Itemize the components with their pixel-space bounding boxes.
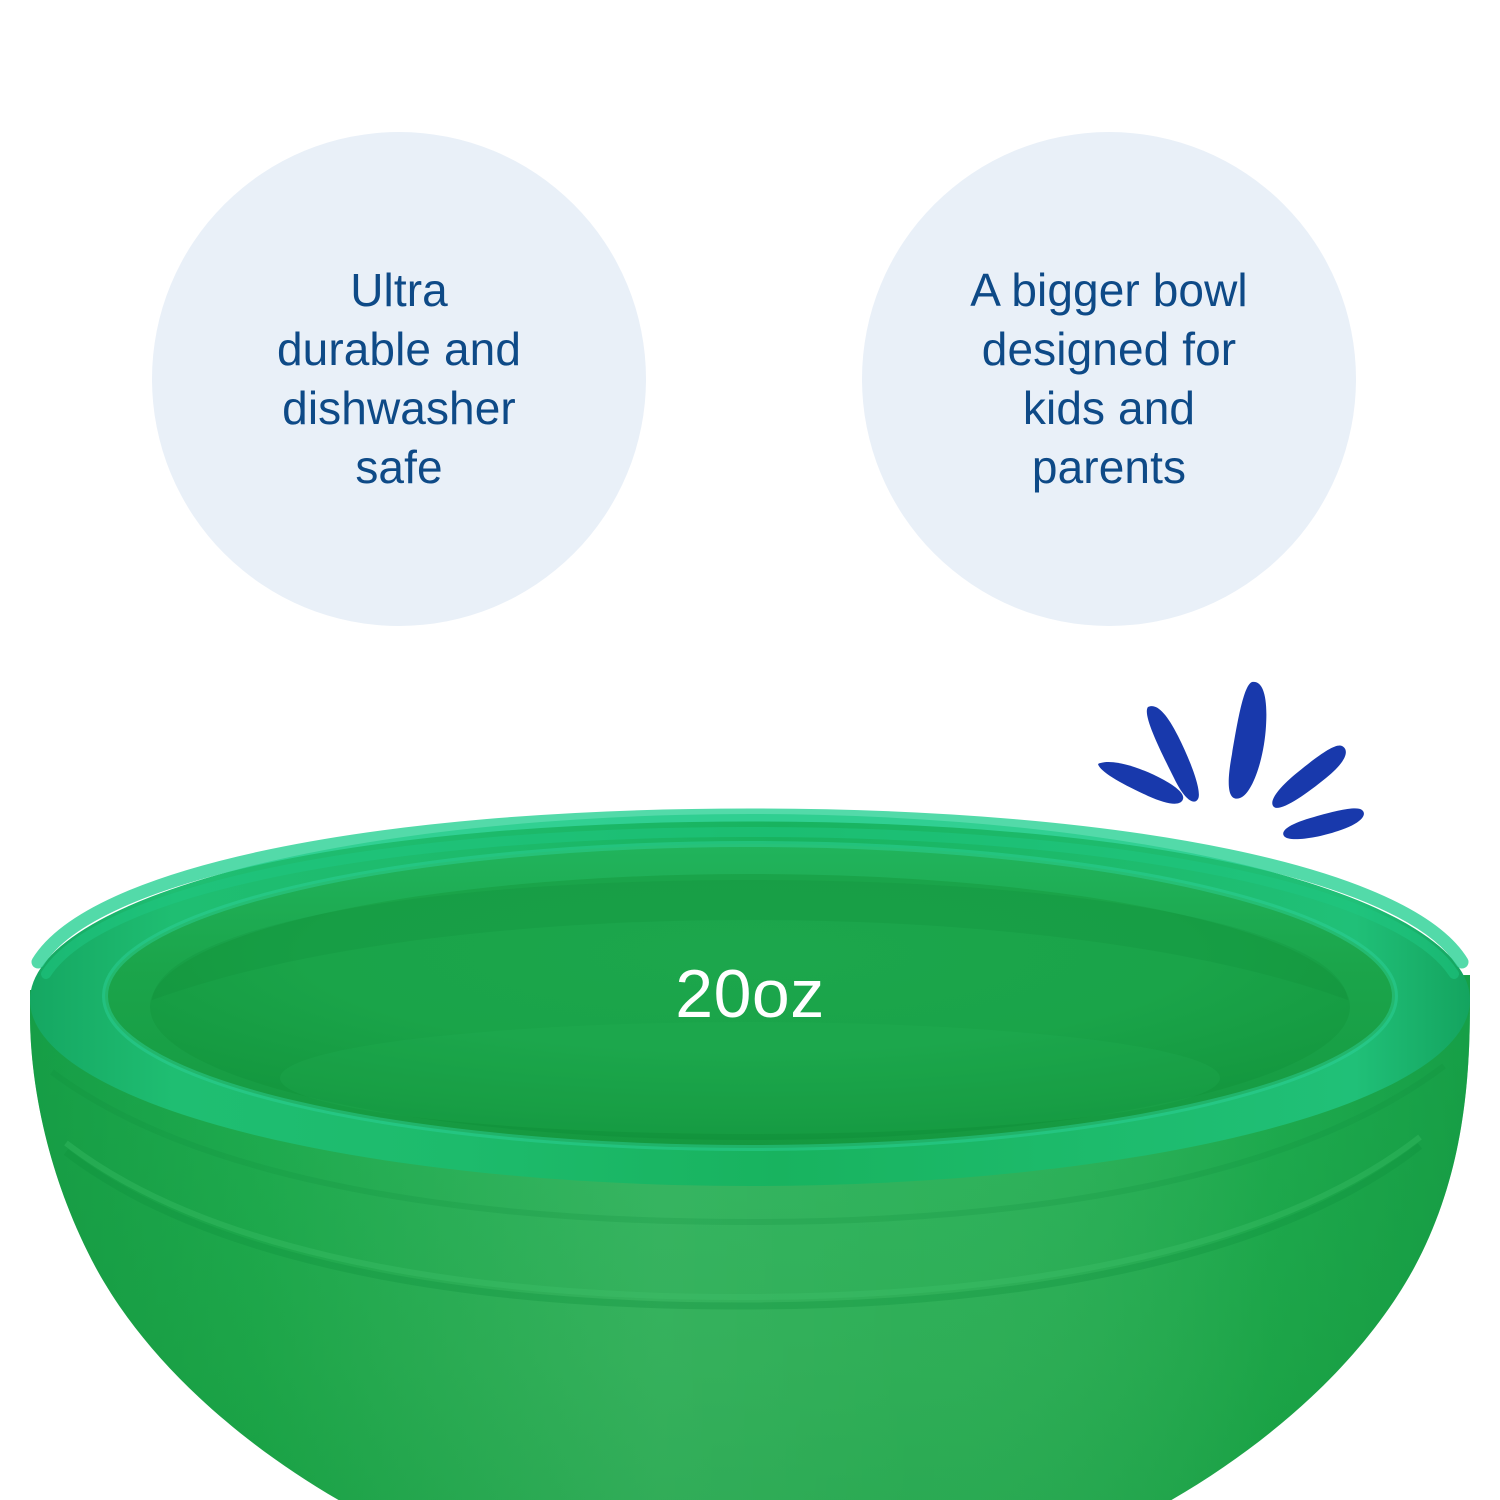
feature-circle-durable: Ultra durable and dishwasher safe	[152, 132, 646, 626]
capacity-label: 20oz	[0, 955, 1500, 1033]
bowl-interior-cavity	[150, 874, 1350, 1140]
bowl-rim-outer	[30, 814, 1470, 1186]
bowl-inner-wall	[105, 844, 1395, 1148]
feature-circle-bigger-text: A bigger bowl designed for kids and pare…	[944, 261, 1273, 497]
feature-circle-durable-text: Ultra durable and dishwasher safe	[251, 261, 547, 497]
feature-circle-bigger: A bigger bowl designed for kids and pare…	[862, 132, 1356, 626]
product-feature-graphic: 20oz Ultra durable and dishwasher safe A…	[0, 0, 1500, 1500]
starburst-rays	[1098, 682, 1364, 839]
starburst-ray-3	[1229, 682, 1267, 799]
bowl-rim-inner-seam	[105, 844, 1395, 1148]
bowl-body-ridge-highlight	[66, 1137, 1420, 1297]
bowl-body-side-shading	[30, 975, 1470, 1500]
bowl-body-ridge-groove	[66, 1146, 1420, 1306]
starburst-ray-5	[1283, 808, 1364, 839]
bowl-shoulder-groove	[52, 1066, 1444, 1222]
starburst-ray-4	[1272, 746, 1346, 808]
bowl-interior-far-shadow	[152, 880, 1348, 1000]
bowl-outer-body	[30, 975, 1470, 1500]
bowl-interior-floor-sheen	[280, 1022, 1220, 1134]
sparkle-starburst-icon	[1080, 660, 1380, 860]
